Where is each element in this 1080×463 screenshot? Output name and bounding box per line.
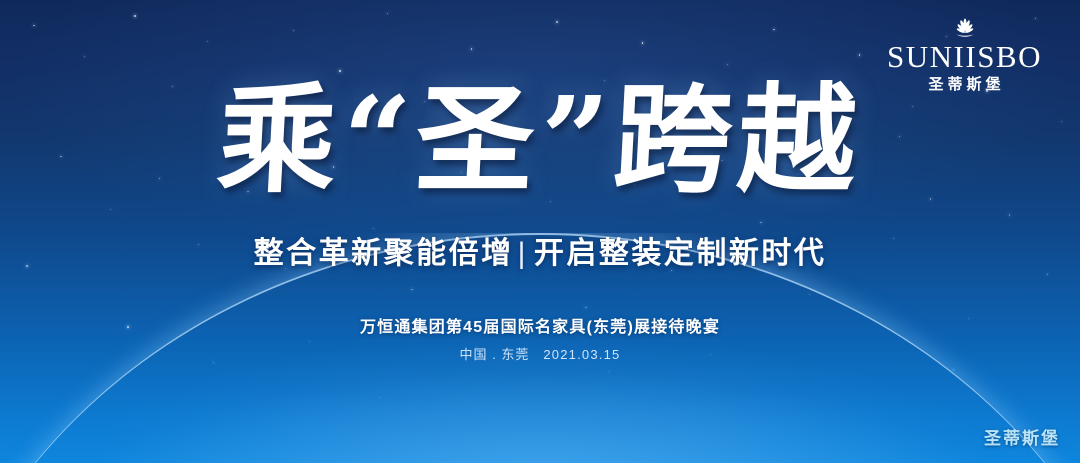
event-place-date: 中国 . 东莞2021.03.15 xyxy=(0,344,1080,363)
star-dot xyxy=(727,64,728,65)
star-dot xyxy=(471,48,473,50)
star-dot xyxy=(809,294,810,295)
event-date: 2021.03.15 xyxy=(543,347,620,362)
star-dot xyxy=(411,289,412,290)
subtitle: 整合革新聚能倍增|开启整装定制新时代 xyxy=(0,228,1080,272)
lotus-flower-icon xyxy=(950,18,980,40)
horizon-glow xyxy=(65,373,1015,463)
star-dot xyxy=(642,42,644,44)
subtitle-left: 整合革新聚能倍增 xyxy=(254,237,514,270)
subtitle-separator: | xyxy=(518,237,528,270)
headline-text: 乘“圣”跨越 xyxy=(0,78,1080,202)
star-dot xyxy=(773,29,775,31)
star-dot xyxy=(859,54,861,56)
star-dot xyxy=(134,15,136,17)
star-dot xyxy=(33,25,34,26)
promo-banner: SUNIISBO 圣蒂斯堡 乘“圣”跨越 整合革新聚能倍增|开启整装定制新时代 … xyxy=(0,0,1080,463)
star-dot xyxy=(760,222,761,223)
star-dot xyxy=(293,30,294,31)
event-title: 万恒通集团第45届国际名家具(东莞)展接待晚宴 xyxy=(0,313,1080,337)
star-dot xyxy=(1047,274,1049,276)
star-dot xyxy=(387,13,388,14)
brand-watermark: 圣蒂斯堡 xyxy=(984,424,1060,449)
subtitle-right: 开启整装定制新时代 xyxy=(534,237,827,270)
star-dot xyxy=(84,56,85,57)
star-dot xyxy=(380,397,381,398)
star-dot xyxy=(110,209,111,210)
star-dot xyxy=(953,369,954,370)
star-dot xyxy=(1009,214,1010,215)
star-dot xyxy=(608,371,609,372)
star-dot xyxy=(585,307,586,308)
star-dot xyxy=(556,21,557,22)
star-dot xyxy=(309,341,310,342)
logo-wordmark: SUNIISBO xyxy=(887,41,1042,74)
event-place: 中国 . 东莞 xyxy=(460,347,530,362)
star-dot xyxy=(207,41,208,42)
